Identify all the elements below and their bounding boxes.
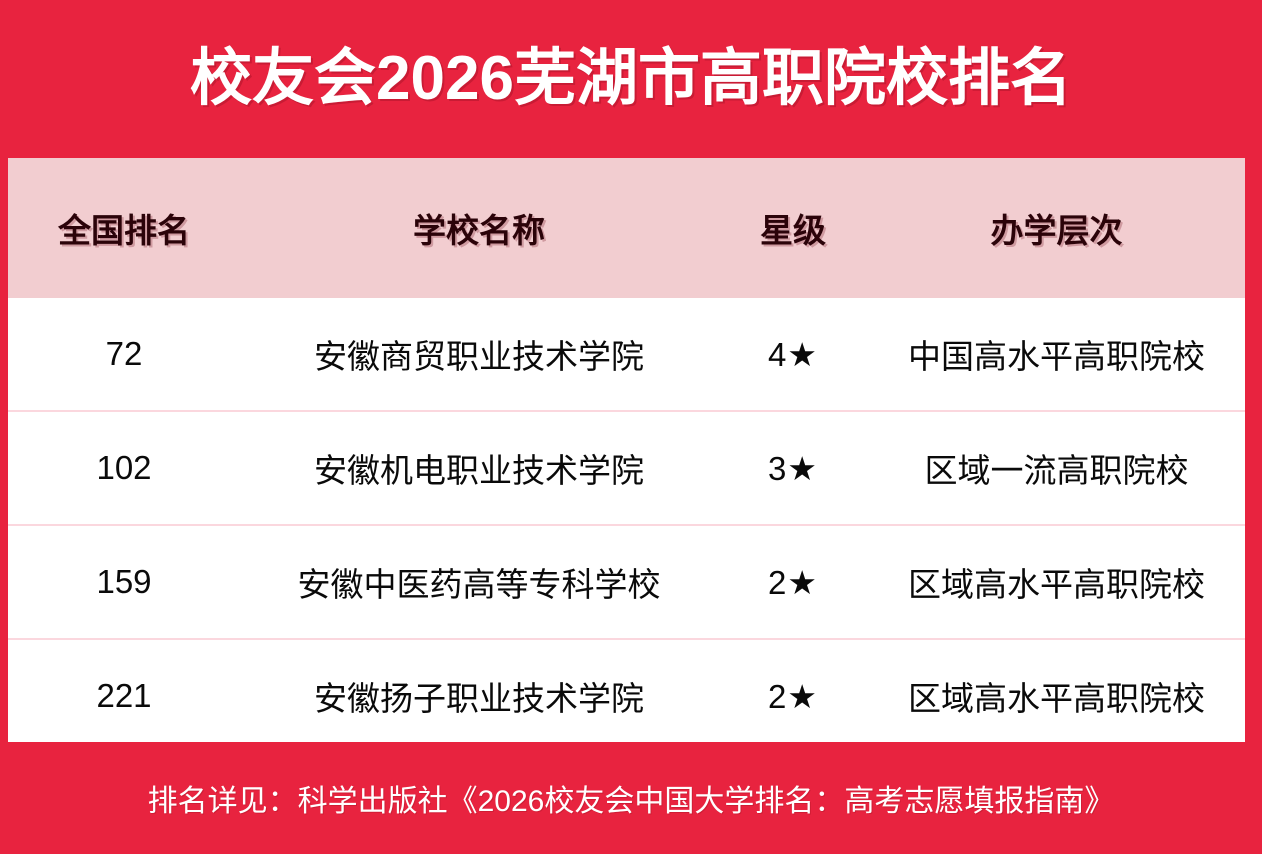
ranking-poster: 校友会2026芜湖市高职院校排名 全国排名 学校名称 星级 办学层次 72 (0, 0, 1262, 854)
source-note: 排名详见：科学出版社《2026校友会中国大学排名：高考志愿填报指南》 (148, 776, 1115, 820)
cell-name: 安徽商贸职业技术学院 (240, 298, 718, 411)
cell-level: 区域高水平高职院校 (868, 639, 1245, 742)
table-row: 159 安徽中医药高等专科学校 2★ 区域高水平高职院校 (8, 525, 1245, 639)
cell-name: 安徽扬子职业技术学院 (240, 639, 718, 742)
cell-star: 2★ (718, 525, 868, 639)
cell-star: 4★ (718, 298, 868, 411)
table-row: 221 安徽扬子职业技术学院 2★ 区域高水平高职院校 (8, 639, 1245, 742)
cell-level: 区域高水平高职院校 (868, 525, 1245, 639)
ranking-table-card: 全国排名 学校名称 星级 办学层次 72 安徽商贸职业技术学院 4★ 中国高水平… (8, 158, 1245, 742)
ranking-table: 全国排名 学校名称 星级 办学层次 72 安徽商贸职业技术学院 4★ 中国高水平… (8, 158, 1245, 742)
cell-level: 区域一流高职院校 (868, 411, 1245, 525)
table-header-row: 全国排名 学校名称 星级 办学层次 (8, 158, 1245, 298)
column-header-level: 办学层次 (868, 158, 1245, 298)
column-header-rank: 全国排名 (8, 158, 240, 298)
table-row: 102 安徽机电职业技术学院 3★ 区域一流高职院校 (8, 411, 1245, 525)
page-title: 校友会2026芜湖市高职院校排名 (190, 48, 1072, 110)
cell-rank: 72 (8, 298, 240, 411)
cell-name: 安徽中医药高等专科学校 (240, 525, 718, 639)
cell-star: 2★ (718, 639, 868, 742)
cell-name: 安徽机电职业技术学院 (240, 411, 718, 525)
footer-banner: 排名详见：科学出版社《2026校友会中国大学排名：高考志愿填报指南》 (0, 742, 1262, 854)
cell-star: 3★ (718, 411, 868, 525)
column-header-star: 星级 (718, 158, 868, 298)
table-body: 72 安徽商贸职业技术学院 4★ 中国高水平高职院校 102 安徽机电职业技术学… (8, 298, 1245, 742)
column-header-name: 学校名称 (240, 158, 718, 298)
title-banner: 校友会2026芜湖市高职院校排名 (0, 0, 1262, 158)
table-header: 全国排名 学校名称 星级 办学层次 (8, 158, 1245, 298)
table-row: 72 安徽商贸职业技术学院 4★ 中国高水平高职院校 (8, 298, 1245, 411)
cell-level: 中国高水平高职院校 (868, 298, 1245, 411)
cell-rank: 159 (8, 525, 240, 639)
cell-rank: 102 (8, 411, 240, 525)
cell-rank: 221 (8, 639, 240, 742)
